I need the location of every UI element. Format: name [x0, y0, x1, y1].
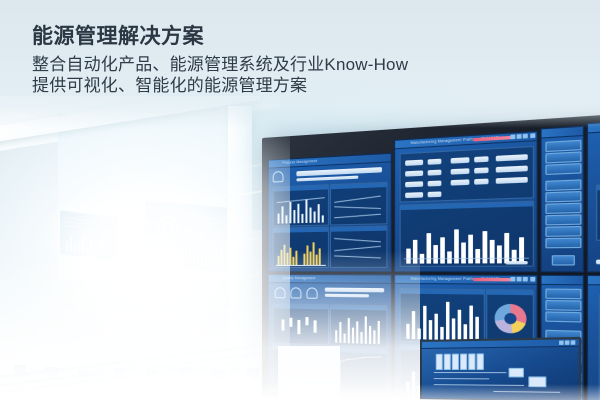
form-input[interactable]	[428, 159, 442, 165]
close-icon[interactable]	[571, 340, 576, 344]
process-node[interactable]	[452, 354, 459, 370]
minimize-icon[interactable]	[510, 277, 515, 282]
form-label	[451, 179, 470, 185]
menu-button[interactable]	[545, 140, 581, 152]
minimize-icon[interactable]	[559, 341, 564, 345]
restore-icon[interactable]	[523, 277, 528, 282]
close-icon[interactable]	[530, 277, 535, 282]
subtitle-line-2: 提供可视化、智能化的能源管理方案	[32, 75, 572, 96]
bottom-fade	[0, 384, 600, 400]
header-text-block: 能源管理解决方案 整合自动化产品、能源管理系统及行业Know-How 提供可视化…	[32, 24, 572, 96]
form-input[interactable]	[428, 181, 442, 187]
panel-header	[542, 127, 583, 139]
status-row	[596, 259, 600, 264]
maximize-icon[interactable]	[517, 277, 522, 282]
window-controls[interactable]	[510, 277, 534, 282]
form-label	[405, 181, 423, 187]
chart-card[interactable]	[596, 182, 600, 241]
panel-header	[588, 276, 600, 286]
form-input[interactable]	[474, 167, 488, 173]
menu-button[interactable]	[545, 163, 581, 175]
footer-value	[506, 261, 528, 264]
form-label	[405, 192, 423, 198]
form-input[interactable]	[474, 179, 488, 185]
form-label	[451, 168, 470, 174]
menu-button[interactable]	[552, 255, 575, 265]
process-node[interactable]	[477, 353, 484, 370]
form-label	[405, 160, 423, 166]
floor-glow	[0, 250, 420, 400]
panel-far-right-bottom[interactable]	[587, 275, 600, 400]
form-button[interactable]	[496, 177, 528, 184]
search-field[interactable]	[296, 167, 382, 176]
chart-card[interactable]	[330, 182, 387, 226]
process-node[interactable]	[436, 354, 443, 370]
status-accent-bar	[473, 277, 514, 281]
form-input[interactable]	[428, 191, 442, 197]
process-node[interactable]	[509, 368, 524, 378]
page-title: 能源管理解决方案	[32, 24, 572, 50]
menu-button[interactable]	[545, 151, 581, 163]
menu-button[interactable]	[545, 191, 581, 203]
process-node[interactable]	[444, 354, 451, 370]
form-button[interactable]	[496, 154, 528, 161]
form-input[interactable]	[474, 156, 488, 162]
menu-button[interactable]	[545, 300, 581, 311]
process-node[interactable]	[468, 353, 475, 370]
panel-top-right[interactable]	[540, 126, 584, 273]
maximize-icon[interactable]	[565, 340, 570, 344]
menu-button[interactable]	[545, 179, 581, 191]
progress-field	[296, 176, 358, 182]
form-button[interactable]	[496, 166, 528, 173]
menu-button[interactable]	[545, 311, 581, 322]
minimize-icon[interactable]	[510, 135, 515, 140]
donut-chart	[495, 304, 527, 334]
subtitle-line-1: 整合自动化产品、能源管理系统及行业Know-How	[32, 54, 572, 75]
panel-far-right-top[interactable]	[587, 118, 600, 273]
form-input[interactable]	[428, 170, 442, 176]
close-icon[interactable]	[530, 133, 535, 138]
menu-button[interactable]	[545, 203, 581, 214]
maximize-icon[interactable]	[517, 134, 522, 139]
process-node[interactable]	[460, 354, 467, 370]
panel-header	[542, 276, 583, 285]
menu-button[interactable]	[545, 226, 581, 237]
laptop-titlebar	[422, 339, 579, 349]
menu-button[interactable]	[545, 238, 581, 249]
form-label	[405, 170, 423, 176]
energy-management-banner: Process Management	[0, 0, 600, 400]
menu-button[interactable]	[545, 288, 581, 299]
menu-button[interactable]	[545, 214, 581, 225]
input-form-card[interactable]	[400, 146, 534, 203]
restore-icon[interactable]	[523, 134, 528, 139]
form-label	[451, 157, 470, 163]
